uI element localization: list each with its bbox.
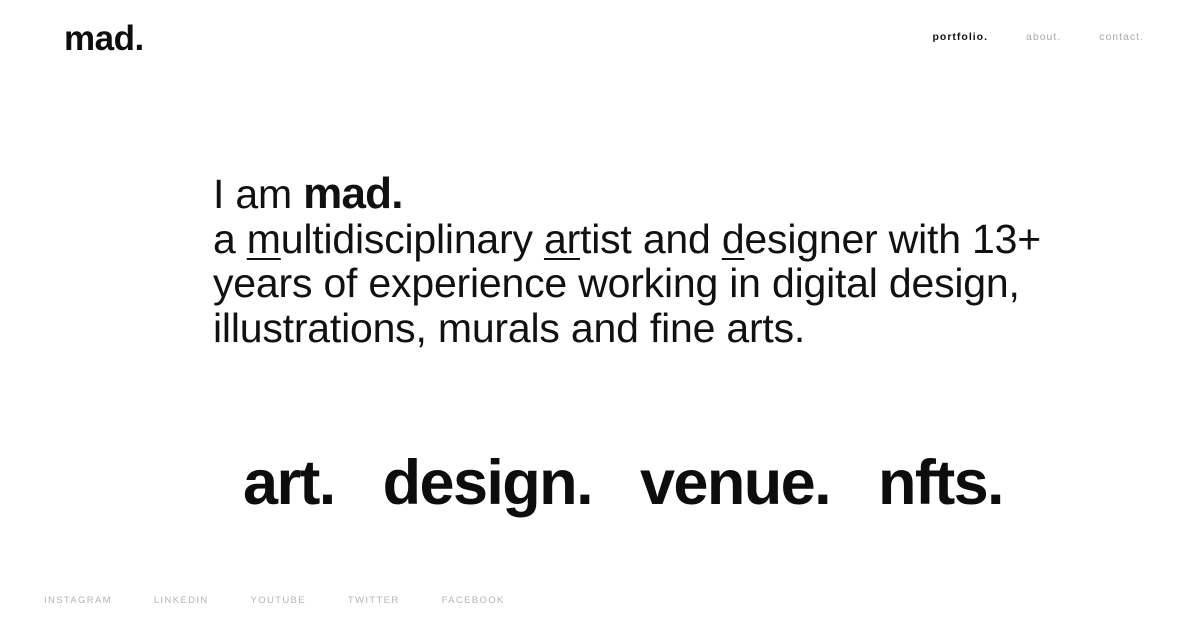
category-art[interactable]: art. (243, 452, 335, 515)
main-nav: portfolio. about. contact. (933, 31, 1144, 45)
social-link-youtube[interactable]: YOUTUBE (251, 595, 306, 606)
social-link-twitter[interactable]: TWITTER (348, 595, 400, 606)
hero-line1-strong: mad. (303, 169, 403, 218)
hero-headline: I am mad.a multidisciplinary artist and … (213, 172, 1093, 350)
hero-line2-underline-d: d (722, 216, 745, 262)
hero-line2-part-b: ultidisciplinary (281, 216, 544, 262)
site-footer: INSTAGRAM LINKEDIN YOUTUBE TWITTER FACEB… (0, 568, 1200, 630)
hero-section: I am mad.a multidisciplinary artist and … (213, 172, 1093, 350)
social-link-linkedin[interactable]: LINKEDIN (154, 595, 209, 606)
social-link-instagram[interactable]: INSTAGRAM (44, 595, 112, 606)
hero-line2-underline-m: m (247, 216, 281, 262)
category-venue[interactable]: venue. (640, 452, 830, 515)
list-item: FACEBOOK (442, 590, 505, 608)
hero-line2-underline-ar: ar (544, 216, 580, 262)
list-item: INSTAGRAM (44, 590, 112, 608)
nav-item-contact[interactable]: contact. (1099, 31, 1144, 43)
social-link-facebook[interactable]: FACEBOOK (442, 595, 505, 606)
list-item: TWITTER (348, 590, 400, 608)
hero-line3: years of experience working in digital d… (213, 260, 1020, 306)
hero-line2-part-d: esigner with 13+ (744, 216, 1041, 262)
site-logo[interactable]: mad. (64, 21, 144, 56)
category-nfts[interactable]: nfts. (878, 452, 1003, 515)
hero-line2-part-c: tist and (580, 216, 722, 262)
nav-item-portfolio[interactable]: portfolio. (933, 31, 989, 43)
hero-line1-prefix: I am (213, 171, 303, 217)
social-link-list: INSTAGRAM LINKEDIN YOUTUBE TWITTER FACEB… (44, 590, 505, 608)
list-item: LINKEDIN (154, 590, 209, 608)
category-design[interactable]: design. (383, 452, 592, 515)
nav-item-about[interactable]: about. (1026, 31, 1061, 43)
list-item: YOUTUBE (251, 590, 306, 608)
hero-line2-part-a: a (213, 216, 247, 262)
hero-line4: illustrations, murals and fine arts. (213, 305, 805, 351)
category-nav: art. design. venue. nfts. (243, 452, 1003, 515)
site-header: mad. portfolio. about. contact. (0, 0, 1200, 76)
